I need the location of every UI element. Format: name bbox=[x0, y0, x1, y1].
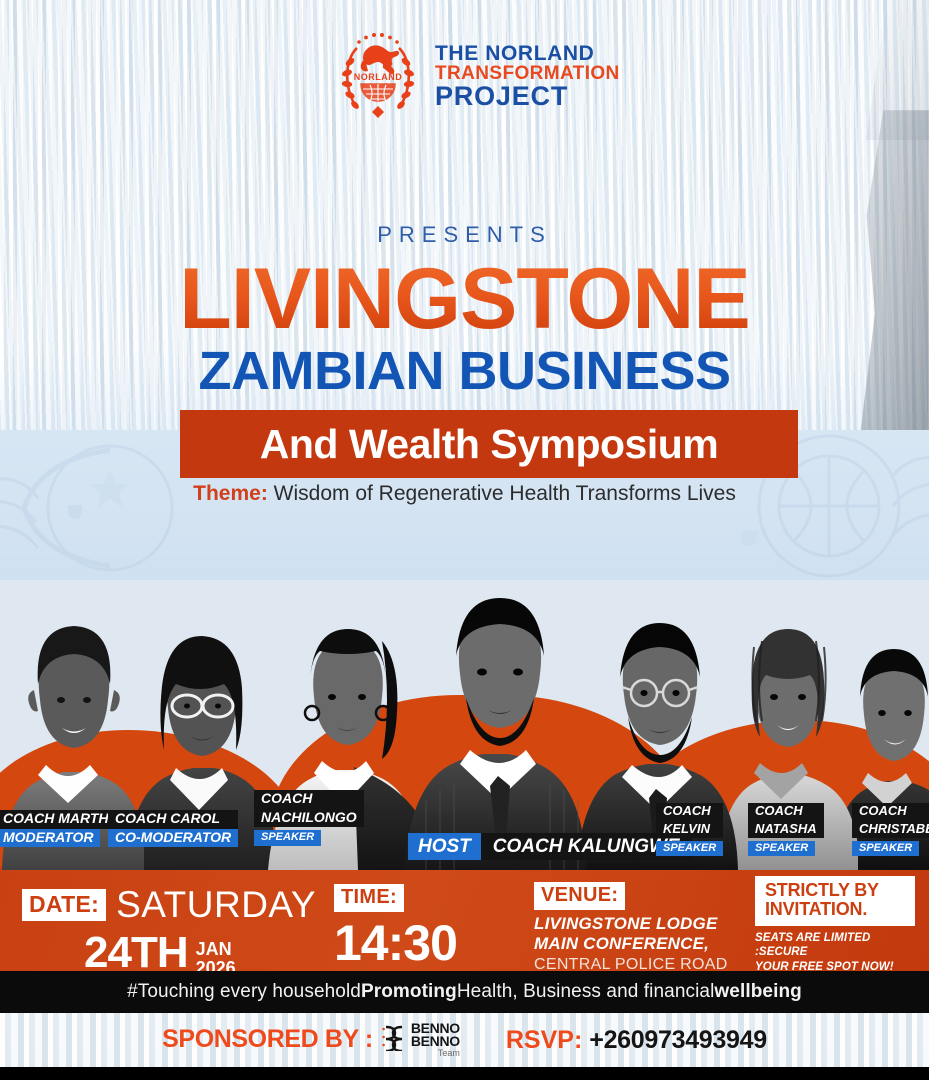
date-weekday: SATURDAY bbox=[116, 884, 316, 926]
event-title-banner-text: And Wealth Symposium bbox=[260, 421, 719, 468]
speaker-name-martha: COACH MARTHA bbox=[0, 810, 126, 829]
speaker-role-natasha: SPEAKER bbox=[748, 841, 815, 856]
tagline-bold-2: wellbeing bbox=[714, 981, 801, 1003]
benno-word-2: BENNO bbox=[411, 1035, 460, 1048]
invitation-line-1: STRICTLY BY bbox=[765, 881, 907, 900]
speaker-name-nachilongo-line2: NACHILONGO bbox=[254, 809, 364, 828]
event-title-main: LIVINGSTONE bbox=[0, 256, 929, 342]
speaker-role-carol: CO-MODERATOR bbox=[108, 829, 238, 848]
speaker-name-natasha-line1: COACH bbox=[748, 803, 824, 821]
name-tag-martha: COACH MARTHA MODERATOR bbox=[0, 810, 126, 847]
date-label: DATE: bbox=[22, 889, 106, 921]
rsvp-label: RSVP: bbox=[506, 1026, 582, 1055]
venue-line-2: MAIN CONFERENCE, bbox=[534, 934, 764, 954]
sponsored-by-label: SPONSORED BY : bbox=[162, 1025, 373, 1054]
theme-line: Theme: Wisdom of Regenerative Health Tra… bbox=[0, 482, 929, 506]
name-tag-nachilongo: COACH NACHILONGO SPEAKER bbox=[254, 790, 364, 846]
time-block: TIME: 14:30 bbox=[334, 884, 514, 972]
speaker-name-carol: COACH CAROL bbox=[108, 810, 238, 829]
benno-logo: BENNO BENNO Team bbox=[382, 1022, 460, 1058]
svg-text:NORLAND: NORLAND bbox=[354, 72, 403, 82]
speaker-name-christabel-line2: CHRISTABEL bbox=[852, 821, 929, 839]
speaker-role-kalungwe: HOST bbox=[408, 833, 481, 860]
venue-label: VENUE: bbox=[534, 882, 625, 910]
speaker-role-nachilongo: SPEAKER bbox=[254, 830, 321, 845]
speakers-strip: COACH MARTHA MODERATOR COACH CAROL CO-MO… bbox=[0, 545, 929, 870]
venue-block: VENUE: LIVINGSTONE LODGE MAIN CONFERENCE… bbox=[534, 882, 764, 975]
invitation-line-2: INVITATION. bbox=[765, 900, 907, 919]
speaker-role-kelvin: SPEAKER bbox=[656, 841, 723, 856]
name-tag-christabel: COACH CHRISTABEL SPEAKER bbox=[852, 803, 929, 856]
event-title-banner: And Wealth Symposium bbox=[180, 410, 798, 478]
speaker-name-nachilongo-line1: COACH bbox=[254, 790, 364, 809]
speaker-photo-kalungwe bbox=[400, 550, 600, 870]
sponsor-group: SPONSORED BY : BENNO BENNO bbox=[162, 1022, 460, 1058]
tagline-part-1: #Touching every household bbox=[127, 981, 361, 1003]
presents-label: PRESENTS bbox=[0, 222, 929, 248]
brand-line-3: PROJECT bbox=[435, 83, 620, 110]
benno-bb-monogram-icon bbox=[382, 1023, 408, 1056]
time-value: 14:30 bbox=[334, 914, 514, 972]
seats-notice: SEATS ARE LIMITED :SECURE YOUR FREE SPOT… bbox=[755, 931, 915, 974]
benno-wordmark: BENNO BENNO Team bbox=[411, 1022, 460, 1058]
speaker-name-kelvin-line1: COACH bbox=[656, 803, 723, 821]
sponsor-bar: SPONSORED BY : BENNO BENNO bbox=[0, 1013, 929, 1067]
event-title-sub: ZAMBIAN BUSINESS bbox=[0, 344, 929, 398]
name-tag-kalungwe: HOST COACH KALUNGWE bbox=[408, 833, 692, 860]
brand-line-1: THE NORLAND bbox=[435, 43, 620, 64]
speaker-role-christabel: SPEAKER bbox=[852, 841, 919, 856]
footer-black-strip bbox=[0, 1067, 929, 1080]
invitation-notice: STRICTLY BY INVITATION. bbox=[755, 876, 915, 926]
tagline-bar: #Touching every household Promoting Heal… bbox=[0, 971, 929, 1013]
name-tag-natasha: COACH NATASHA SPEAKER bbox=[748, 803, 824, 856]
venue-line-1: LIVINGSTONE LODGE bbox=[534, 914, 764, 934]
speaker-role-martha: MODERATOR bbox=[0, 829, 100, 848]
theme-text: Wisdom of Regenerative Health Transforms… bbox=[268, 482, 736, 505]
event-poster: NORLAND THE NORLAND TRANSFORMATION PROJE… bbox=[0, 0, 929, 1080]
name-tag-kelvin: COACH KELVIN SPEAKER bbox=[656, 803, 723, 856]
date-month: JAN bbox=[196, 939, 232, 959]
rsvp-phone-number[interactable]: +260973493949 bbox=[589, 1026, 767, 1055]
date-block: DATE: SATURDAY 24TH JAN 2026 bbox=[22, 884, 322, 978]
speaker-name-natasha-line2: NATASHA bbox=[748, 821, 824, 839]
norland-logo: NORLAND THE NORLAND TRANSFORMATION PROJE… bbox=[335, 28, 620, 124]
rsvp-group[interactable]: RSVP: +260973493949 bbox=[506, 1026, 767, 1055]
speaker-name-christabel-line1: COACH bbox=[852, 803, 929, 821]
time-label: TIME: bbox=[334, 884, 404, 912]
invitation-block: STRICTLY BY INVITATION. SEATS ARE LIMITE… bbox=[755, 876, 915, 974]
tagline-part-2: Health, Business and financial bbox=[457, 981, 715, 1003]
name-tag-carol: COACH CAROL CO-MODERATOR bbox=[108, 810, 238, 847]
speaker-name-kelvin-line2: KELVIN bbox=[656, 821, 723, 839]
norland-logo-text: THE NORLAND TRANSFORMATION PROJECT bbox=[435, 43, 620, 110]
benno-word-3: Team bbox=[411, 1049, 460, 1057]
tagline-bold-1: Promoting bbox=[361, 981, 457, 1003]
norland-crest-icon: NORLAND bbox=[335, 28, 421, 124]
theme-label: Theme: bbox=[193, 482, 268, 505]
brand-line-2: TRANSFORMATION bbox=[435, 64, 620, 83]
seats-line-1: SEATS ARE LIMITED :SECURE bbox=[755, 931, 915, 960]
